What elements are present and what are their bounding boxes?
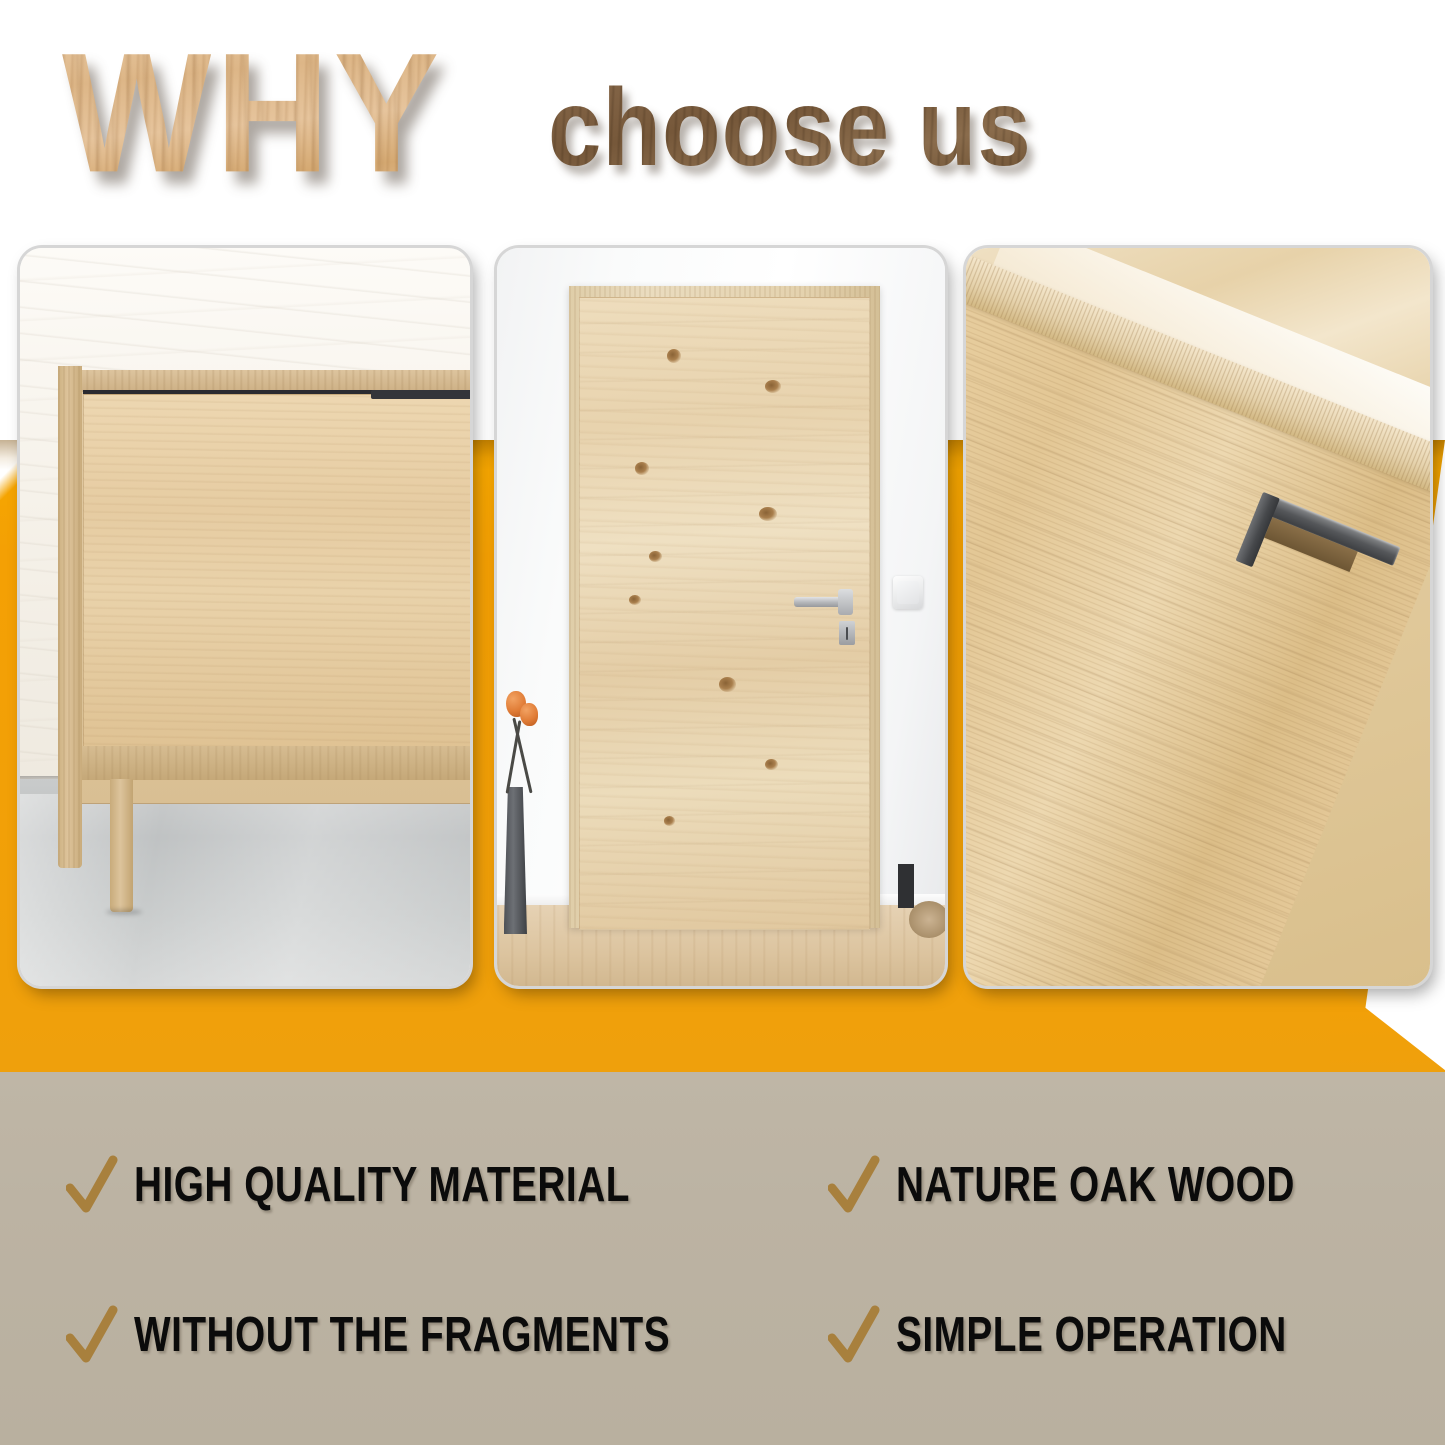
gallery-photo-door[interactable] [497,248,945,986]
wood-knot [664,816,676,826]
cabinet-bar-handle [371,390,470,399]
feature-label: HIGH QUALITY MATERIAL [134,1158,630,1212]
wood-knot [649,551,662,562]
gallery-photo-cabinet[interactable] [20,248,470,986]
feature-item: SIMPLE OPERATION [828,1305,1299,1365]
cabinet-bottom-rail [79,746,471,780]
cabinet-flap-door [83,394,470,754]
infographic-root: WHY choose us [0,0,1445,1445]
wood-knot [719,677,736,692]
features-section [0,1072,1445,1445]
door-lever-handle [794,597,846,607]
feature-label: NATURE OAK WOOD [896,1158,1295,1212]
feature-item: NATURE OAK WOOD [828,1155,1307,1215]
wood-knot [629,595,641,605]
round-floor-mat [909,901,945,938]
door-keyhole-escutcheon [839,621,855,645]
check-icon [828,1155,880,1215]
feature-label: WITHOUT THE FRAGMENTS [134,1308,670,1362]
dried-flower [520,703,538,727]
light-switch [893,576,923,608]
photo-edge-scene [966,248,1430,986]
check-icon [66,1305,118,1365]
feature-label: SIMPLE OPERATION [896,1308,1287,1362]
cabinet-left-post [58,366,81,868]
wood-knot [765,759,778,770]
check-icon [66,1155,118,1215]
gallery-photo-edge-detail[interactable] [966,248,1430,986]
cabinet-leg [110,779,133,912]
oak-door-leaf [579,297,870,930]
check-icon [828,1305,880,1365]
floor-reflection [20,794,470,986]
page-title-primary: WHY [62,28,443,198]
photo-cabinet-scene [20,248,470,986]
photo-door-scene [497,248,945,986]
wood-knot [759,507,776,521]
wood-knot [667,349,681,363]
header: WHY choose us [0,0,1445,235]
dark-object [898,864,914,908]
page-title-secondary: choose us [548,74,1032,183]
door-handle-rose [838,589,853,615]
wood-knot [765,380,781,393]
cabinet-leg-shadow [106,909,142,915]
feature-item: HIGH QUALITY MATERIAL [66,1155,645,1215]
cabinet-top-edge [65,370,470,392]
wood-knot [635,462,649,475]
feature-item: WITHOUT THE FRAGMENTS [66,1305,687,1365]
